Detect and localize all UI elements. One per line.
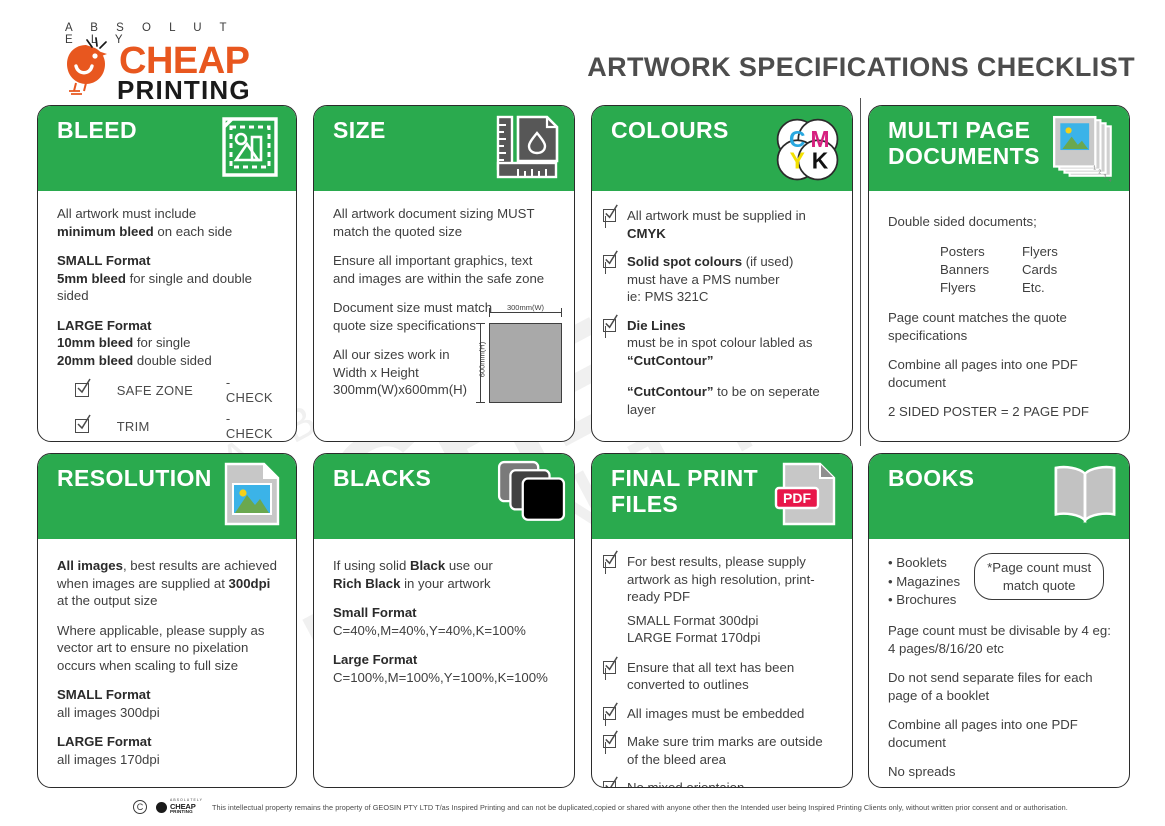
finalprint-item[interactable]: For best results, please supply artwork … — [603, 553, 836, 606]
check-tick-icon — [602, 549, 621, 568]
size-p1: All artwork document sizing MUST match t… — [333, 205, 558, 240]
resolution-large-format: LARGE Format all images 170dpi — [57, 733, 280, 768]
svg-text:Y: Y — [790, 148, 805, 174]
check-tick-icon — [602, 249, 621, 268]
size-diagram: 300mm(W) 600mm(H) — [472, 303, 564, 407]
blacks-p1-t2: use our — [445, 558, 493, 573]
finalprint-item[interactable]: Make sure trim marks are outside of the … — [603, 733, 836, 768]
footer-brand-logo: ABSOLUTELY CHEAP PRINTING — [156, 799, 203, 815]
multipage-col-left: Posters Banners Flyers — [940, 243, 1022, 298]
colours-die-line2: must be in spot colour labled as — [627, 335, 812, 350]
page-title: ARTWORK SPECIFICATIONS CHECKLIST — [587, 52, 1135, 83]
books-quote-callout: *Page count must match quote — [974, 553, 1104, 600]
check-tick-icon — [602, 313, 621, 332]
footer-logo-line3: PRINTING — [170, 810, 203, 815]
finalprint-subnote: SMALL Format 300dpi LARGE Format 170dpi — [627, 612, 836, 647]
finalprint-item[interactable]: All images must be embedded — [603, 705, 836, 723]
bleed-checklist-row[interactable]: TRIM - CHECK — [57, 411, 280, 441]
colours-item-die-lines[interactable]: Die Lines must be in spot colour labled … — [603, 317, 836, 370]
books-bullet-label: Magazines — [896, 574, 960, 589]
column-divider — [860, 98, 861, 446]
books-top-row: • Booklets • Magazines • Brochures *Page… — [888, 553, 1113, 610]
multipage-col-right: Flyers Cards Etc. — [1022, 243, 1104, 298]
checkbox-trim[interactable] — [75, 419, 89, 433]
finalprint-item[interactable]: No mixed orientaion — [603, 779, 836, 788]
multipage-item: Flyers — [1022, 243, 1104, 261]
size-p2: Ensure all important graphics, text and … — [333, 252, 558, 287]
card-bleed-header: BLEED — [38, 106, 296, 191]
card-colours: COLOURS C M Y K A — [591, 105, 853, 442]
card-finalprint-header: FINAL PRINT FILES PDF — [592, 454, 852, 539]
finalprint-item-text: Ensure that all text has been converted … — [627, 659, 836, 694]
card-bleed-body: All artwork must include minimum bleed o… — [38, 191, 296, 442]
bleed-intro-rest: on each side — [154, 224, 232, 239]
card-finalprint-body: For best results, please supply artwork … — [592, 539, 852, 788]
card-colours-body: All artwork must be supplied in CMYK Sol… — [592, 191, 852, 426]
card-books-header: BOOKS — [869, 454, 1129, 539]
bleed-large-format-block: LARGE Format 10mm bleed for single 20mm … — [57, 317, 280, 370]
svg-text:2: 2 — [1098, 170, 1101, 176]
size-diagram-width-tick-right — [561, 308, 562, 317]
blacks-large-value: C=100%,M=100%,Y=100%,K=100% — [333, 670, 548, 685]
colours-footer-bold: “CutContour” — [627, 384, 713, 399]
bleed-checklist-label: SAFE ZONE — [117, 383, 226, 398]
colours-item-cmyk-text: All artwork must be supplied in CMYK — [627, 207, 806, 242]
svg-text:3: 3 — [1104, 174, 1107, 180]
card-size-body: All artwork document sizing MUST match t… — [314, 191, 574, 442]
bleed-small-value-bold: 5mm bleed — [57, 271, 126, 286]
finalprint-sub-large: LARGE Format 170dpi — [627, 630, 760, 645]
blacks-p1-b1: Black — [410, 558, 445, 573]
check-tick-icon — [602, 701, 621, 720]
card-resolution-header: RESOLUTION — [38, 454, 296, 539]
svg-text:K: K — [812, 148, 829, 174]
blacks-p1-b2: Rich Black — [333, 576, 400, 591]
books-bullet-item: • Magazines — [888, 573, 960, 592]
image-file-icon — [218, 462, 286, 530]
bleed-checklist: SAFE ZONE - CHECK TRIM - CHECK — [57, 375, 280, 442]
bleed-large-format-label: LARGE Format — [57, 318, 152, 333]
size-diagram-width-label: 300mm(W) — [489, 303, 562, 312]
checkbox-print-ready-pdf[interactable] — [603, 555, 616, 568]
checkbox-images-embedded[interactable] — [603, 707, 616, 720]
card-multipage-header: MULTI PAGE DOCUMENTS 1 2 3 4 — [869, 106, 1129, 191]
bleed-checklist-row[interactable]: SAFE ZONE - CHECK — [57, 375, 280, 405]
books-quote-line1: *Page count must — [987, 559, 1091, 576]
blacks-small-value: C=40%,M=40%,Y=40%,K=100% — [333, 623, 526, 638]
bleed-small-format-block: SMALL Format 5mm bleed for single and do… — [57, 252, 280, 305]
bleed-intro: All artwork must include minimum bleed o… — [57, 205, 280, 240]
card-multi-page-documents: MULTI PAGE DOCUMENTS 1 2 3 4 Double side… — [868, 105, 1130, 442]
books-bullet-item: • Booklets — [888, 554, 960, 573]
books-p4: No spreads — [888, 763, 1113, 781]
colours-spot-line2: must have a PMS number — [627, 272, 779, 287]
finalprint-item[interactable]: Ensure that all text has been converted … — [603, 659, 836, 694]
colours-item-spot[interactable]: Solid spot colours (if used) must have a… — [603, 253, 836, 306]
finalprint-item-text: For best results, please supply artwork … — [627, 553, 836, 606]
blacks-p1-t1: If using solid — [333, 558, 410, 573]
resolution-p1-text2: at the output size — [57, 593, 157, 608]
blacks-p1-t3: in your artwork — [400, 576, 490, 591]
checkbox-no-mixed-orientation[interactable] — [603, 781, 616, 788]
card-size: SIZE All artwork document sizing MU — [313, 105, 575, 442]
books-bullet-item: • Brochures — [888, 591, 960, 610]
size-p4-line3: 300mm(W)x600mm(H) — [333, 382, 467, 397]
colours-item-spot-text: Solid spot colours (if used) must have a… — [627, 253, 793, 306]
stacked-pages-icon: 1 2 3 4 — [1049, 114, 1119, 184]
blacks-small-format: Small Format C=40%,M=40%,Y=40%,K=100% — [333, 604, 558, 639]
resolution-large-label: LARGE Format — [57, 734, 152, 749]
check-tick-icon — [74, 377, 94, 397]
bleed-large-value2-bold: 20mm bleed — [57, 353, 133, 368]
card-books: BOOKS • Booklets • Magazines • Brochures — [868, 453, 1130, 788]
multipage-item: Etc. — [1022, 279, 1104, 297]
blacks-large-label: Large Format — [333, 652, 417, 667]
card-size-header: SIZE — [314, 106, 574, 191]
multipage-item: Flyers — [940, 279, 1022, 297]
card-colours-header: COLOURS C M Y K — [592, 106, 852, 191]
bleed-checklist-action: - CHECK — [226, 411, 280, 441]
books-p3: Combine all pages into one PDF document — [888, 716, 1113, 751]
card-books-body: • Booklets • Magazines • Brochures *Page… — [869, 539, 1129, 788]
colours-spot-line3: ie: PMS 321C — [627, 289, 708, 304]
bleed-large-value2-rest: double sided — [133, 353, 211, 368]
brand-logo: A B S O L U T E L Y CHEAP PRINTING — [33, 22, 243, 94]
multipage-item: Banners — [940, 261, 1022, 279]
bleed-small-format-label: SMALL Format — [57, 253, 151, 268]
resolution-large-value: all images 170dpi — [57, 752, 160, 767]
colours-cmyk-bold: CMYK — [627, 226, 666, 241]
finalprint-sub-small: SMALL Format 300dpi — [627, 613, 758, 628]
checkbox-die-lines[interactable] — [603, 319, 616, 332]
cards-grid: BLEED All artwork must include minimum b… — [0, 98, 1165, 798]
multipage-p1: Double sided documents; — [888, 213, 1113, 231]
page-footer: C ABSOLUTELY CHEAP PRINTING This intelle… — [0, 796, 1165, 818]
books-p2: Do not send separate files for each page… — [888, 669, 1113, 704]
size-diagram-height-label: 600mm(H) — [478, 331, 487, 389]
pdf-file-icon: PDF — [774, 462, 842, 530]
svg-text:1: 1 — [1093, 166, 1096, 172]
check-tick-icon — [74, 413, 94, 433]
bird-logo-icon — [60, 37, 122, 95]
size-diagram-rect — [489, 323, 562, 403]
books-bullet-list: • Booklets • Magazines • Brochures — [888, 553, 960, 610]
card-bleed: BLEED All artwork must include minimum b… — [37, 105, 297, 442]
checkbox-trim-marks[interactable] — [603, 735, 616, 748]
size-diagram-width-line — [489, 312, 562, 313]
artwork-specifications-checklist-page: A B S O L U T E L Y CHEAP P R I N T I N … — [0, 0, 1165, 826]
multipage-p3: Combine all pages into one PDF document — [888, 356, 1113, 391]
resolution-p1: All images, best results are achieved wh… — [57, 557, 280, 610]
colours-item-die-lines-text: Die Lines must be in spot colour labled … — [627, 317, 812, 370]
check-tick-icon — [602, 203, 621, 222]
size-p3: Document size must match quote size spec… — [333, 299, 493, 334]
footer-bird-icon — [156, 802, 167, 813]
finalprint-item-text: No mixed orientaion — [627, 779, 744, 788]
card-blacks-header: BLACKS — [314, 454, 574, 539]
bleed-checklist-action: - CHECK — [226, 375, 280, 405]
checkbox-safe-zone[interactable] — [75, 383, 89, 397]
colours-item-cmyk[interactable]: All artwork must be supplied in CMYK — [603, 207, 836, 242]
colours-spot-rest: (if used) — [742, 254, 793, 269]
resolution-p1-bold2: 300dpi — [229, 576, 271, 591]
books-bullet-label: Booklets — [896, 555, 947, 570]
multipage-item: Cards — [1022, 261, 1104, 279]
resolution-small-value: all images 300dpi — [57, 705, 160, 720]
footer-disclaimer-text: This intellectual property remains the p… — [212, 803, 1068, 812]
page-header: A B S O L U T E L Y CHEAP PRINTING ARTWO… — [0, 0, 1165, 98]
size-diagram-width-tick-left — [489, 308, 490, 317]
resolution-p1-bold1: All images — [57, 558, 123, 573]
copyright-icon: C — [133, 800, 147, 814]
svg-text:PDF: PDF — [783, 490, 811, 506]
blacks-p1: If using solid Black use our Rich Black … — [333, 557, 558, 592]
multipage-document-types: Posters Banners Flyers Flyers Cards Etc. — [940, 243, 1113, 298]
colours-spot-bold: Solid spot colours — [627, 254, 742, 269]
footer-logo-text: ABSOLUTELY CHEAP PRINTING — [170, 799, 203, 815]
check-tick-icon — [602, 775, 621, 788]
bleed-checklist-label: TRIM — [117, 419, 226, 434]
card-resolution: RESOLUTION All images, best results are … — [37, 453, 297, 788]
resolution-small-label: SMALL Format — [57, 687, 151, 702]
card-resolution-body: All images, best results are achieved wh… — [38, 539, 296, 788]
multipage-p4: 2 SIDED POSTER = 2 PAGE PDF — [888, 403, 1113, 421]
multipage-p2: Page count matches the quote specificati… — [888, 309, 1113, 344]
card-blacks-body: If using solid Black use our Rich Black … — [314, 539, 574, 706]
image-bleed-icon — [216, 115, 284, 183]
bleed-large-value1-rest: for single — [133, 335, 190, 350]
check-tick-icon — [602, 729, 621, 748]
finalprint-item-text: Make sure trim marks are outside of the … — [627, 733, 836, 768]
size-p4-line2: Width x Height — [333, 365, 419, 380]
blacks-small-label: Small Format — [333, 605, 417, 620]
multipage-item: Posters — [940, 243, 1022, 261]
colours-die-line3: “CutContour” — [627, 353, 713, 368]
books-p1: Page count must be divisable by 4 eg: 4 … — [888, 622, 1113, 657]
black-squares-icon — [494, 460, 568, 530]
books-bullet-label: Brochures — [896, 592, 956, 607]
resolution-p2: Where applicable, please supply as vecto… — [57, 622, 280, 675]
size-diagram-height-tick-bottom — [476, 402, 485, 403]
colours-footer-note: “CutContour” to be on seperate layer — [627, 383, 836, 418]
card-multipage-body: Double sided documents; Posters Banners … — [869, 191, 1129, 441]
checkbox-text-outlines[interactable] — [603, 661, 616, 674]
blacks-large-format: Large Format C=100%,M=100%,Y=100%,K=100% — [333, 651, 558, 686]
cmyk-circles-icon: C M Y K — [770, 112, 844, 186]
checkbox-cmyk[interactable] — [603, 209, 616, 222]
colours-cmyk-lead: All artwork must be supplied in — [627, 208, 806, 223]
logo-printing-text: PRINTING — [117, 75, 251, 106]
card-blacks: BLACKS If using solid Black use our Rich… — [313, 453, 575, 788]
size-p4-line1: All our sizes work in — [333, 347, 450, 362]
colours-die-bold: Die Lines — [627, 318, 686, 333]
check-tick-icon — [602, 655, 621, 674]
bleed-intro-bold: minimum bleed — [57, 224, 154, 239]
checkbox-spot-colours[interactable] — [603, 255, 616, 268]
bleed-intro-line1: All artwork must include — [57, 206, 196, 221]
finalprint-item-text: All images must be embedded — [627, 705, 804, 723]
ruler-document-icon — [494, 115, 562, 183]
open-book-icon — [1049, 462, 1121, 528]
books-quote-line2: match quote — [1003, 577, 1076, 594]
bleed-large-value1-bold: 10mm bleed — [57, 335, 133, 350]
card-final-print-files: FINAL PRINT FILES PDF For best results, … — [591, 453, 853, 788]
svg-text:4: 4 — [1109, 178, 1112, 184]
resolution-small-format: SMALL Format all images 300dpi — [57, 686, 280, 721]
size-diagram-height-tick-top — [476, 323, 485, 324]
